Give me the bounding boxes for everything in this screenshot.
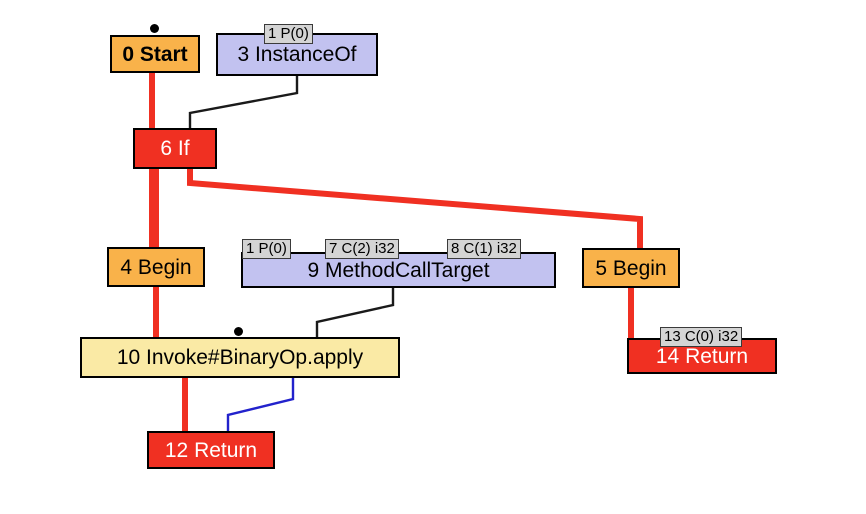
graph-node-label-return14: 14 Return	[650, 346, 754, 367]
graph-node-begin5[interactable]: 5 Begin	[582, 248, 680, 288]
graph-node-label-invoke: 10 Invoke#BinaryOp.apply	[111, 347, 369, 368]
edge-if-begin5[interactable]	[190, 169, 640, 248]
graph-port-p-mct-8[interactable]: 8 C(1) i32	[447, 239, 521, 259]
anchor-invoke-dot[interactable]	[234, 327, 243, 336]
graph-port-p-mct-1[interactable]: 1 P(0)	[242, 239, 291, 259]
anchor-start-dot[interactable]	[150, 24, 159, 33]
graph-node-label-if: 6 If	[154, 138, 195, 159]
graph-port-p-return14-13[interactable]: 13 C(0) i32	[660, 327, 742, 347]
graph-node-if[interactable]: 6 If	[133, 128, 217, 169]
graph-port-p-mct-7[interactable]: 7 C(2) i32	[325, 239, 399, 259]
graph-node-label-instanceof: 3 InstanceOf	[231, 44, 362, 65]
graph-node-label-begin4: 4 Begin	[114, 257, 197, 278]
graph-port-p-instanceof-1[interactable]: 1 P(0)	[264, 24, 313, 44]
graph-node-start[interactable]: 0 Start	[110, 35, 200, 73]
graph-node-label-begin5: 5 Begin	[589, 258, 672, 279]
graph-node-invoke[interactable]: 10 Invoke#BinaryOp.apply	[80, 337, 400, 378]
graph-node-label-return12: 12 Return	[159, 440, 263, 461]
graph-node-label-start: 0 Start	[116, 44, 193, 65]
graph-canvas: 0 Start3 InstanceOf6 If4 Begin9 MethodCa…	[0, 0, 866, 514]
graph-node-label-mct: 9 MethodCallTarget	[301, 260, 495, 281]
graph-node-return12[interactable]: 12 Return	[147, 431, 275, 469]
edge-mct-invoke[interactable]	[317, 288, 393, 337]
edge-invoke-value-return12[interactable]	[228, 378, 293, 431]
edge-instanceof-if[interactable]	[190, 76, 297, 128]
graph-node-begin4[interactable]: 4 Begin	[107, 247, 205, 287]
